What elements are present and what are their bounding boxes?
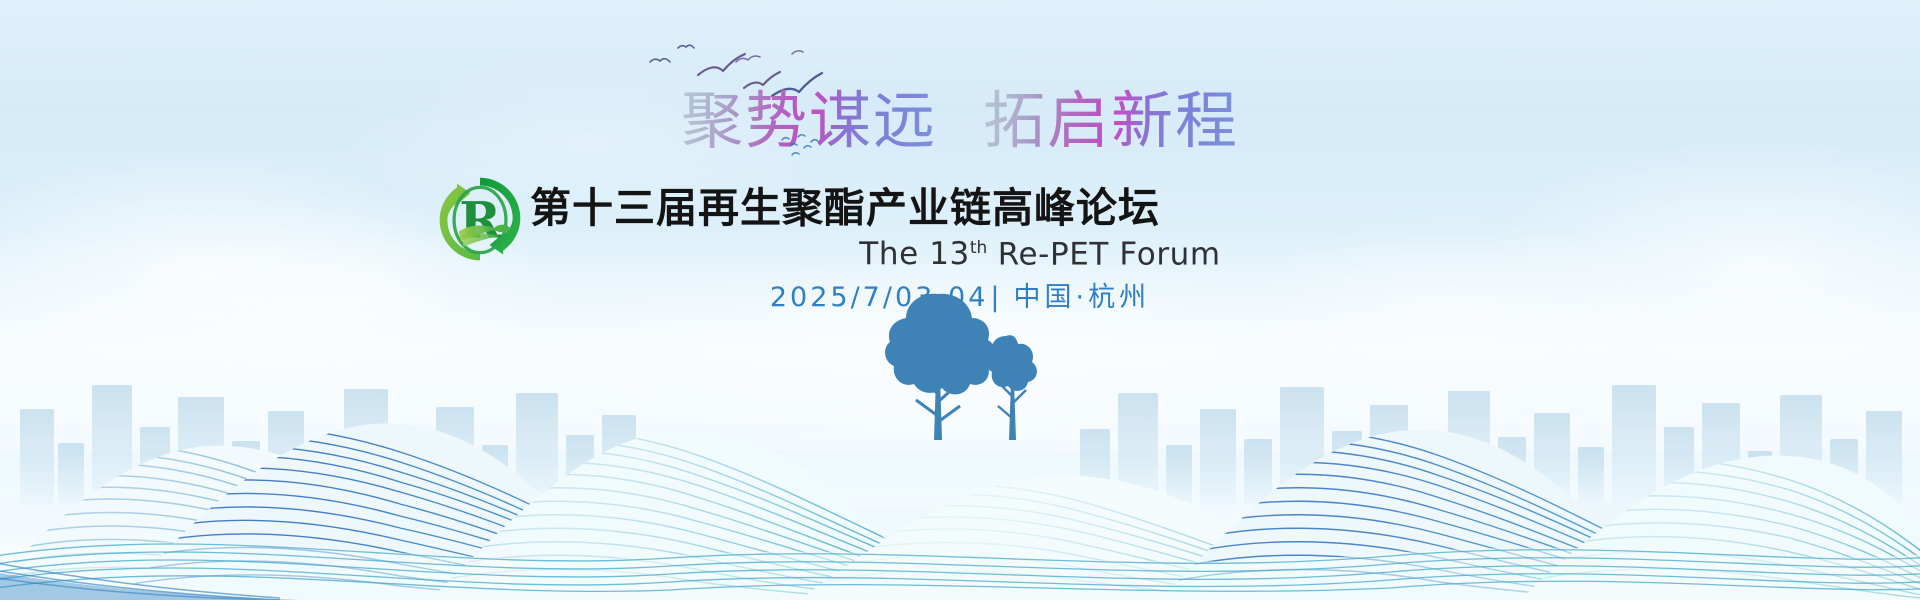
spray-dots-icon bbox=[778, 128, 822, 167]
conference-banner: 聚势谋远拓启新程 bbox=[0, 0, 1920, 600]
event-slogan: 聚势谋远拓启新程 bbox=[0, 86, 1920, 156]
slogan-part-2: 拓启新程 bbox=[983, 84, 1239, 157]
subtitle-english: The 13th Re-PET Forum bbox=[0, 228, 1920, 274]
subtitle-prefix: The 13 bbox=[699, 236, 970, 272]
line-art-mountain-waves bbox=[0, 320, 1920, 600]
page-title: 第十三届再生聚酯产业链高峰论坛 bbox=[530, 184, 1160, 232]
subtitle-ordinal: th bbox=[970, 238, 987, 258]
subtitle-suffix: Re-PET Forum bbox=[987, 236, 1220, 272]
